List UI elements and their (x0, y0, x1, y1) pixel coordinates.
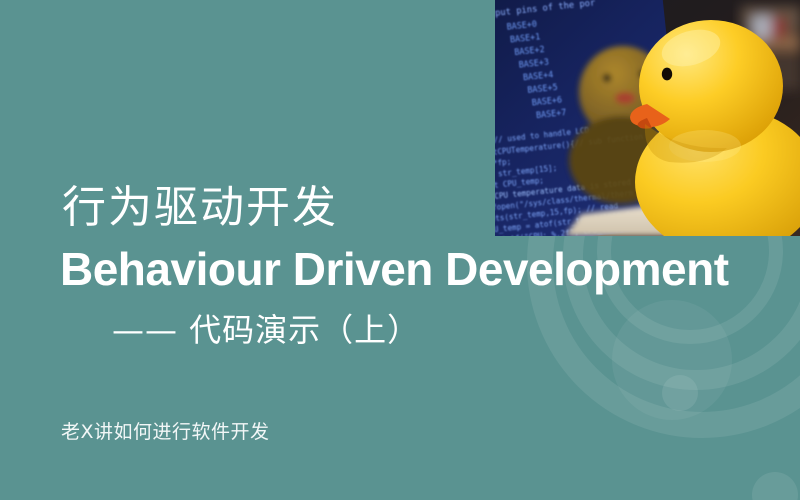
slide-subtitle: —— 代码演示（上） (112, 314, 420, 346)
presentation-slide: output pins of the por BASE+0 BASE+1 BAS… (0, 0, 800, 500)
slide-text-block: 行为驱动开发 Behaviour Driven Development —— 代… (0, 0, 800, 500)
title-chinese: 行为驱动开发 (62, 186, 338, 230)
channel-byline: 老X讲如何进行软件开发 (61, 423, 270, 442)
title-english: Behaviour Driven Development (60, 243, 729, 296)
